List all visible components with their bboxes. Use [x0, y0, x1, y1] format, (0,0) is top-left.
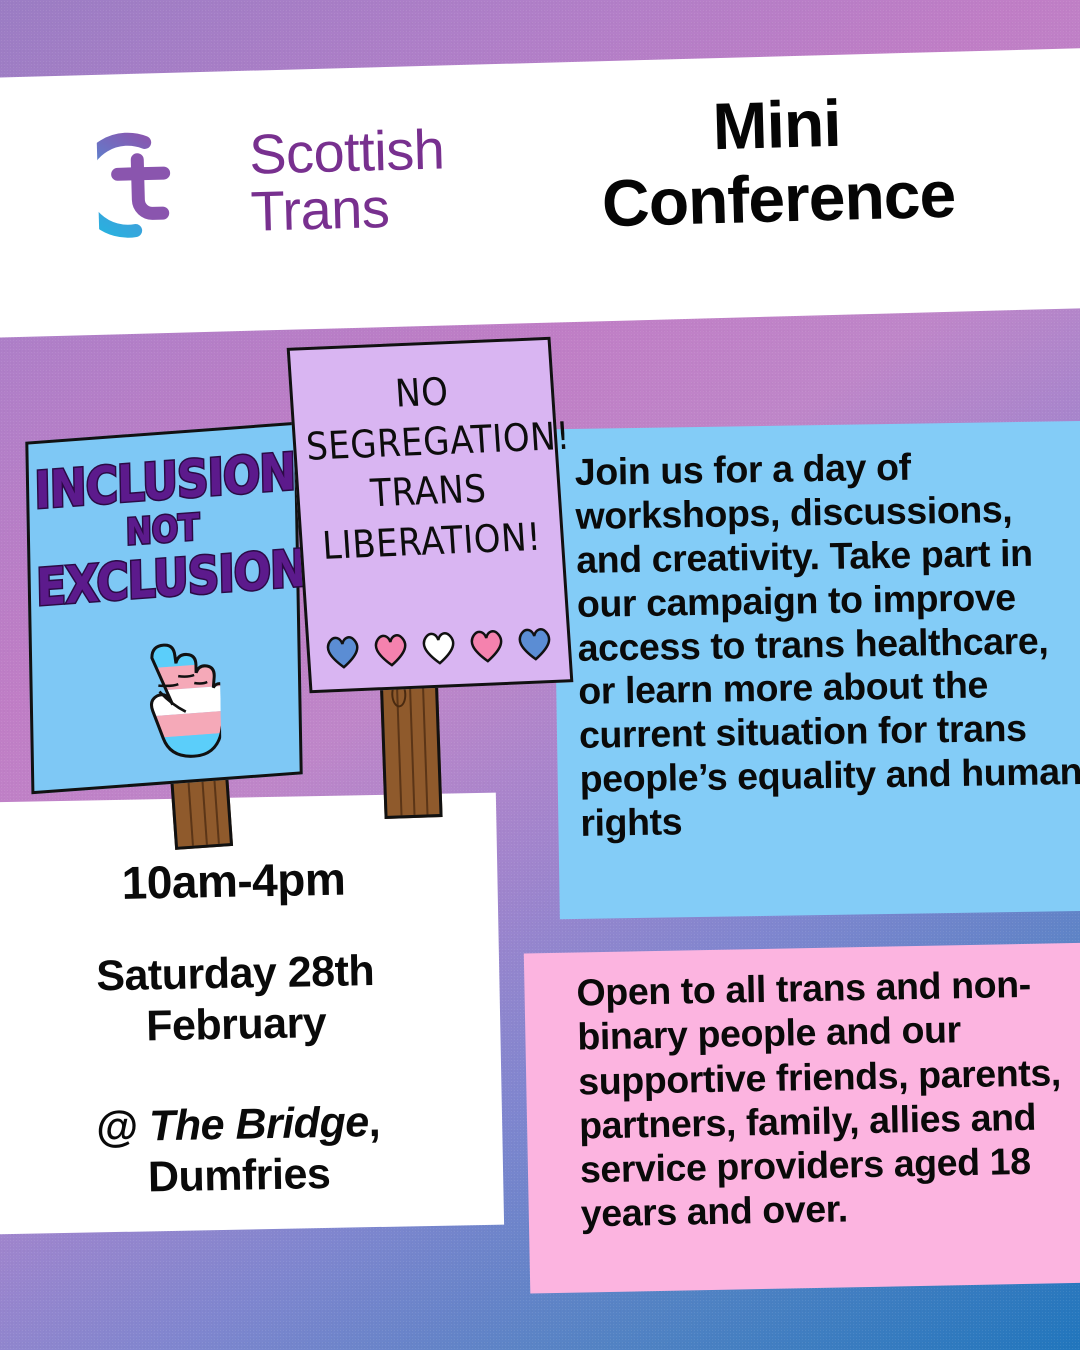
protest-signs-illustration: INCLUSION NOT EXCLUSION [0, 0, 1080, 1350]
heart-icon-2 [371, 632, 411, 668]
trans-pride-fist-icon [128, 637, 222, 764]
heart-icon-5 [515, 626, 555, 662]
sign-inclusion-not-exclusion: INCLUSION NOT EXCLUSION [25, 422, 302, 794]
heart-icon-4 [467, 628, 507, 664]
hearts-row [323, 626, 555, 670]
sign-inclusion-text: INCLUSION NOT EXCLUSION [34, 447, 291, 615]
sign-no-segregation: NO SEGREGATION! TRANS LIBERATION! [287, 337, 574, 693]
heart-icon-3 [419, 630, 459, 666]
heart-icon-1 [323, 634, 363, 670]
sign-liberation-text: NO SEGREGATION! TRANS LIBERATION! [301, 364, 552, 572]
poster-canvas: Scottish Trans Mini Conference INCLUSION… [0, 0, 1080, 1350]
